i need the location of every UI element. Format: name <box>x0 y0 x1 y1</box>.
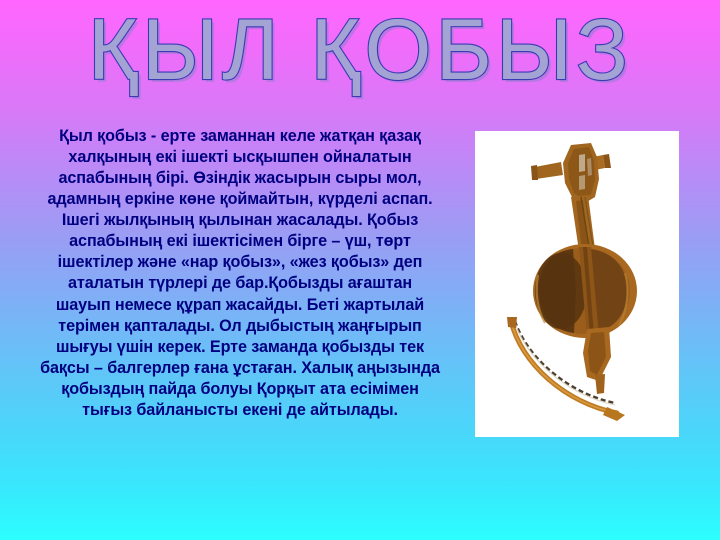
slide-title: ҚЫЛ ҚОБЫЗ ҚЫЛ ҚОБЫЗ <box>0 4 720 104</box>
presentation-slide: ҚЫЛ ҚОБЫЗ ҚЫЛ ҚОБЫЗ Қыл қобыз - ерте зам… <box>0 0 720 540</box>
wordart-title-label: ҚЫЛ ҚОБЫЗ <box>88 6 632 98</box>
kobyz-picture-frame <box>475 131 679 437</box>
wordart-title-graphic: ҚЫЛ ҚОБЫЗ ҚЫЛ ҚОБЫЗ <box>30 6 690 102</box>
kobyz-instrument-icon <box>475 131 679 437</box>
slide-body-text: Қыл қобыз - ерте заманнан келе жатқан қа… <box>40 126 440 421</box>
